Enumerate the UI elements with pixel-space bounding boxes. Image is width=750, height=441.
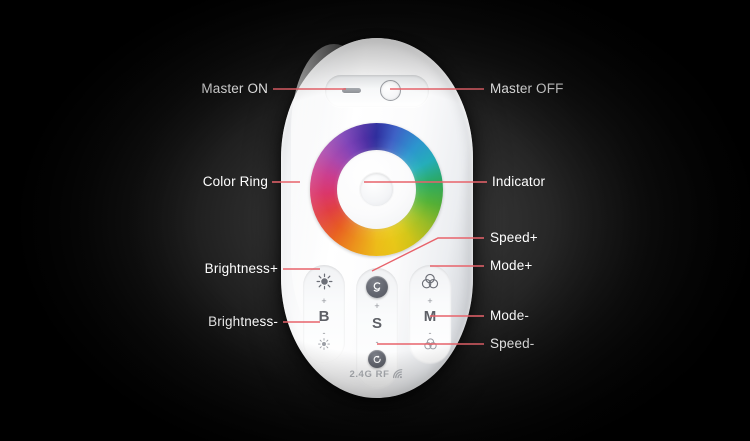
- label-master-on: Master ON: [110, 81, 268, 96]
- sun-bright-icon: [316, 273, 333, 290]
- mode-plus-sign: +: [409, 297, 451, 306]
- speed-up-button[interactable]: [366, 276, 388, 298]
- three-circles-small-icon: [423, 337, 438, 352]
- mode-down-button[interactable]: [409, 337, 451, 352]
- brightness-letter: B: [303, 309, 345, 324]
- sun-dim-icon: [317, 337, 331, 351]
- label-master-off: Master OFF: [490, 81, 564, 96]
- wifi-signal-icon: [392, 368, 405, 379]
- mode-letter: M: [409, 309, 451, 324]
- brightness-down-button[interactable]: [303, 337, 345, 351]
- brightness-button-group: + B -: [303, 265, 345, 363]
- indicator-light: [360, 173, 393, 206]
- label-speed-up: Speed+: [490, 230, 538, 245]
- speed-letter: S: [356, 316, 398, 331]
- speed-plus-sign: +: [356, 302, 398, 311]
- master-power-bar: [325, 75, 429, 107]
- label-mode-down: Mode-: [490, 308, 529, 323]
- rf-footer: 2.4G RF: [281, 368, 473, 380]
- brightness-up-button[interactable]: [303, 273, 345, 290]
- label-mode-up: Mode+: [490, 258, 532, 273]
- diagram-canvas: + B -: [0, 0, 750, 441]
- speed-down-icon: [372, 354, 383, 365]
- brightness-plus-sign: +: [303, 297, 345, 306]
- remote-control-body: + B -: [281, 38, 473, 398]
- mode-up-button[interactable]: [409, 272, 451, 292]
- label-brightness-up: Brightness+: [100, 261, 278, 276]
- speed-down-button[interactable]: [368, 350, 386, 368]
- mode-button-group: + M -: [409, 265, 451, 363]
- speed-minus-sign: -: [356, 338, 398, 347]
- color-ring-assembly: [310, 123, 443, 256]
- three-circles-icon: [420, 272, 440, 292]
- speed-up-icon: [370, 280, 384, 294]
- label-speed-down: Speed-: [490, 336, 534, 351]
- label-color-ring: Color Ring: [110, 174, 268, 189]
- label-brightness-down: Brightness-: [100, 314, 278, 329]
- rf-text: 2.4G RF: [349, 369, 389, 380]
- master-off-button[interactable]: [380, 80, 401, 101]
- master-on-button[interactable]: [342, 88, 361, 93]
- label-indicator: Indicator: [492, 174, 545, 189]
